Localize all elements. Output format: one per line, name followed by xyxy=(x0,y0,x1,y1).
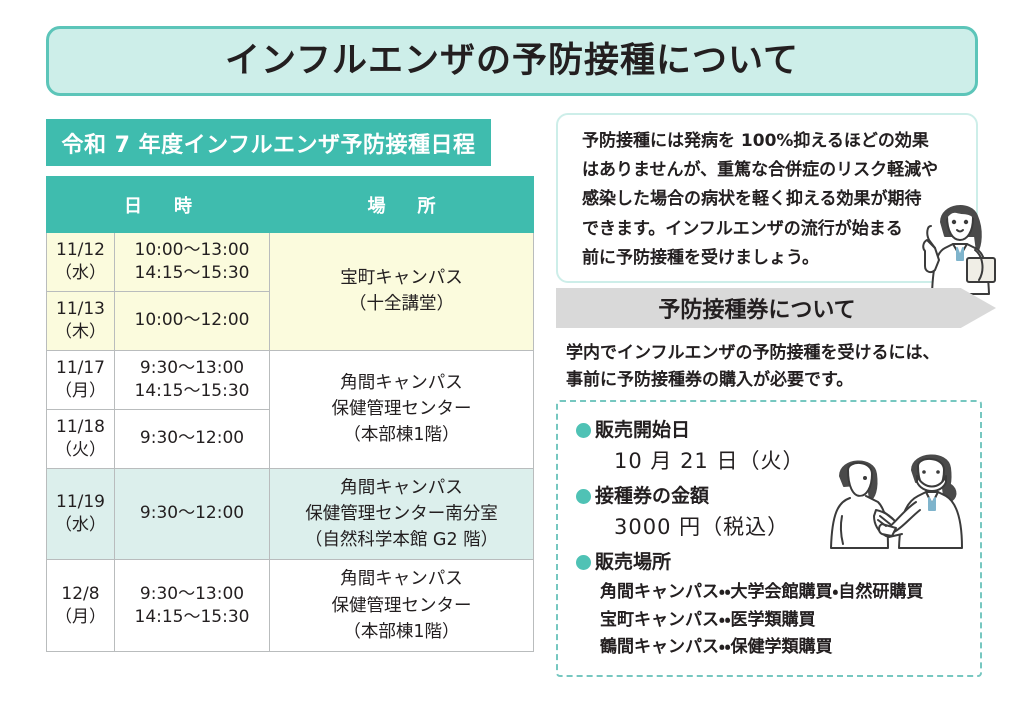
schedule-heading-text: 令和 7 年度インフルエンザ予防接種日程 xyxy=(62,127,476,159)
vaccination-schedule-table: 日 時 場 所 11/12 （水）10:00〜13:00 14:15〜15:30… xyxy=(46,176,534,652)
ticket-note-text: 学内でインフルエンザの予防接種を受けるには、 事前に予防接種券の購入が必要です。 xyxy=(566,340,996,394)
cell-date: 11/12 （水） xyxy=(47,233,115,292)
cell-time: 10:00〜13:00 14:15〜15:30 xyxy=(115,233,270,292)
sales-place-line: 鶴間キャンパス・・保健学類購買 xyxy=(600,634,976,662)
bullet-label: 販売開始日 xyxy=(595,416,690,445)
bullet-dot-icon xyxy=(576,423,591,438)
doctor-pointing-icon xyxy=(905,188,1005,296)
schedule-table-body: 11/12 （水）10:00〜13:00 14:15〜15:30宝町キャンパス … xyxy=(47,233,534,652)
sales-place-line: 角間キャンパス・・大学会館購買・自然研購買 xyxy=(600,579,976,607)
bullet-label: 販売場所 xyxy=(595,548,671,577)
cell-date: 11/13 （木） xyxy=(47,291,115,350)
cell-place: 宝町キャンパス （十全講堂） xyxy=(270,233,534,351)
cell-place: 角間キャンパス 保健管理センター （本部棟1階） xyxy=(270,350,534,468)
cell-time: 10:00〜12:00 xyxy=(115,291,270,350)
cell-place: 角間キャンパス 保健管理センター （本部棟1階） xyxy=(270,560,534,652)
cell-date: 11/17 （月） xyxy=(47,350,115,409)
cell-date: 11/19 （水） xyxy=(47,468,115,560)
table-row: 11/17 （月）9:30〜13:00 14:15〜15:30角間キャンパス 保… xyxy=(47,350,534,409)
table-header-row: 日 時 場 所 xyxy=(47,177,534,233)
bullet-dot-icon xyxy=(576,555,591,570)
table-row: 11/19 （水）9:30〜12:00角間キャンパス 保健管理センター南分室 （… xyxy=(47,468,534,560)
table-row: 12/8 （月）9:30〜13:00 14:15〜15:30角間キャンパス 保健… xyxy=(47,560,534,652)
cell-time: 9:30〜13:00 14:15〜15:30 xyxy=(115,560,270,652)
cell-date: 11/18 （火） xyxy=(47,409,115,468)
bullet-dot-icon xyxy=(576,489,591,504)
cell-place: 角間キャンパス 保健管理センター南分室 （自然科学本館 G2 階） xyxy=(270,468,534,560)
ticket-details-box: 販売開始日10 月 21 日（火）接種券の金額3000 円（税込）販売場所角間キ… xyxy=(556,400,982,677)
cell-time: 9:30〜12:00 xyxy=(115,409,270,468)
page-title: インフルエンザの予防接種について xyxy=(225,44,799,79)
sales-place-line: 宝町キャンパス・・医学類購買 xyxy=(600,607,976,635)
page-title-banner: インフルエンザの予防接種について xyxy=(46,26,978,96)
ticket-section-title: 予防接種券について xyxy=(556,288,996,328)
table-row: 11/12 （水）10:00〜13:00 14:15〜15:30宝町キャンパス … xyxy=(47,233,534,292)
ticket-section-banner: 予防接種券について xyxy=(556,288,996,328)
bullet-label: 接種券の金額 xyxy=(595,482,709,511)
vaccination-scene-icon xyxy=(816,440,976,560)
sales-place-list: 角間キャンパス・・大学会館購買・自然研購買宝町キャンパス・・医学類購買鶴間キャン… xyxy=(600,579,976,662)
cell-time: 9:30〜13:00 14:15〜15:30 xyxy=(115,350,270,409)
column-header-datetime: 日 時 xyxy=(47,177,270,233)
cell-time: 9:30〜12:00 xyxy=(115,468,270,560)
cell-date: 12/8 （月） xyxy=(47,560,115,652)
column-header-place: 場 所 xyxy=(270,177,534,233)
schedule-heading-bar: 令和 7 年度インフルエンザ予防接種日程 xyxy=(46,119,491,166)
